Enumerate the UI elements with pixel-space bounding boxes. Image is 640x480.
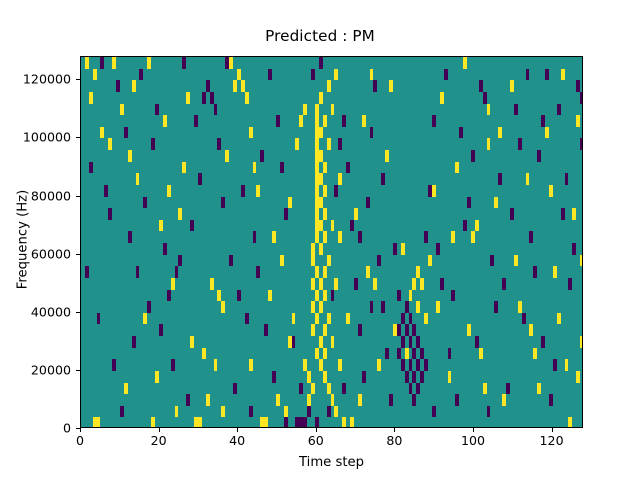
y-tick-mark — [76, 196, 80, 197]
x-tick-mark — [237, 428, 238, 432]
y-tick-mark — [76, 137, 80, 138]
heatmap-image — [81, 57, 583, 428]
x-tick-mark — [394, 428, 395, 432]
x-tick-label: 100 — [461, 433, 485, 448]
y-tick-mark — [76, 428, 80, 429]
plot-area — [80, 56, 583, 428]
y-tick-label: 0 — [0, 421, 71, 436]
x-tick-label: 80 — [386, 433, 402, 448]
y-tick-mark — [76, 312, 80, 313]
y-tick-mark — [76, 79, 80, 80]
y-tick-label: 120000 — [0, 72, 71, 87]
y-tick-mark — [76, 370, 80, 371]
page-title: Predicted : PM — [0, 27, 640, 45]
matplotlib-figure: Predicted : PM Time step Frequency (Hz) … — [0, 0, 640, 480]
x-tick-mark — [552, 428, 553, 432]
x-tick-mark — [159, 428, 160, 432]
x-tick-label: 60 — [308, 433, 324, 448]
x-tick-mark — [473, 428, 474, 432]
y-tick-mark — [76, 254, 80, 255]
y-tick-label: 60000 — [0, 246, 71, 261]
x-tick-mark — [80, 428, 81, 432]
x-axis-label: Time step — [80, 455, 583, 470]
y-tick-label: 100000 — [0, 130, 71, 145]
y-tick-label: 40000 — [0, 304, 71, 319]
y-tick-label: 80000 — [0, 188, 71, 203]
x-tick-mark — [316, 428, 317, 432]
x-tick-label: 40 — [229, 433, 245, 448]
y-tick-label: 20000 — [0, 362, 71, 377]
x-tick-label: 0 — [76, 433, 84, 448]
x-tick-label: 20 — [151, 433, 167, 448]
x-tick-label: 120 — [540, 433, 564, 448]
